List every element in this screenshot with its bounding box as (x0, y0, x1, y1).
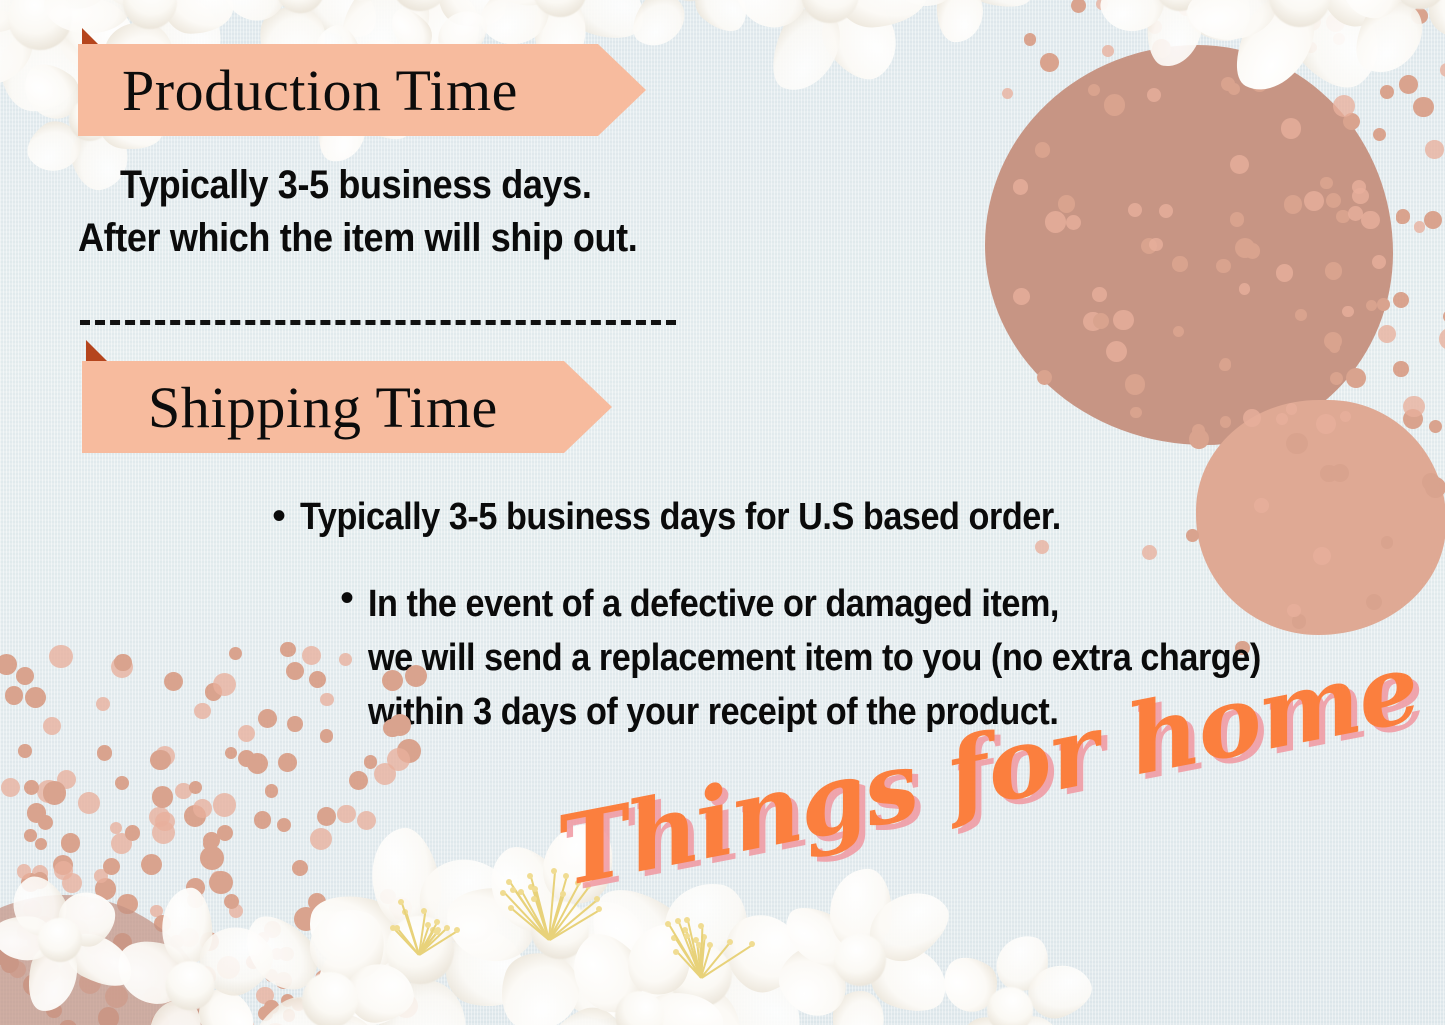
decorative-dot (103, 858, 120, 875)
decorative-dot (5, 686, 24, 705)
decorative-dot (200, 846, 224, 870)
decorative-dot (1304, 191, 1324, 211)
decorative-dot (1230, 212, 1245, 227)
decorative-dot (337, 805, 356, 824)
decorative-dot (265, 784, 279, 798)
ribbon-fold-shipping (86, 340, 108, 362)
decorative-dot (61, 833, 81, 853)
decorative-dot (389, 714, 411, 736)
decorative-dot (49, 645, 73, 669)
decorative-dot (1325, 262, 1343, 280)
decorative-dot (213, 673, 236, 696)
decorative-dot (1425, 140, 1443, 158)
decorative-dot (405, 665, 427, 687)
decorative-dot (349, 771, 368, 790)
decorative-dot (1276, 413, 1288, 425)
decorative-dot (1381, 536, 1393, 548)
flower-stamen-tip (707, 942, 713, 948)
decorative-dot (1159, 204, 1173, 218)
decorative-dot (1380, 85, 1394, 99)
decorative-dot (18, 744, 32, 758)
decorative-dot (1220, 416, 1232, 428)
decorative-dot (1058, 195, 1076, 213)
decorative-dot (96, 697, 110, 711)
flower-stamen-tip (673, 949, 679, 955)
flower-stamen-tip (444, 925, 450, 931)
decorative-dot (1228, 83, 1240, 95)
decorative-dot (1130, 407, 1141, 418)
decorative-dot (1245, 243, 1261, 259)
decorative-dot (1286, 403, 1298, 415)
bullet-marker-icon: • (272, 496, 286, 536)
decorative-dot (78, 792, 99, 813)
flower-stamen-tip (727, 939, 733, 945)
decorative-dot (1286, 433, 1308, 455)
decorative-dot (1342, 306, 1354, 318)
decorative-dot (1013, 179, 1029, 195)
decorative-dot (1396, 209, 1410, 223)
decorative-dot (1326, 193, 1341, 208)
decorative-dot (357, 811, 376, 830)
flower-stamen-tip (532, 886, 538, 892)
banner-production-time: Production Time (78, 44, 598, 136)
decorative-dot (1013, 288, 1030, 305)
decorative-dot (213, 793, 236, 816)
decorative-dot (229, 647, 242, 660)
banner-production-arrow (598, 44, 646, 136)
decorative-dot (254, 811, 272, 829)
decorative-dot (1316, 414, 1336, 434)
decorative-dot (1372, 255, 1386, 269)
decorative-dot (1102, 45, 1114, 57)
decorative-dot (152, 786, 173, 807)
decorative-dot (1125, 374, 1145, 394)
decorative-dot (1092, 287, 1107, 302)
decorative-dot (97, 745, 113, 761)
decorative-dot (1104, 94, 1125, 115)
decorative-dot (1429, 420, 1442, 433)
decorative-dot (224, 894, 239, 909)
decorative-dot (1361, 211, 1380, 230)
production-line-1: Typically 3-5 business days. (120, 163, 591, 208)
flower-stamen-tip (434, 919, 440, 925)
decorative-dot (1035, 142, 1051, 158)
decorative-dot (1284, 195, 1302, 213)
decorative-dot (1040, 53, 1059, 72)
decorative-dot (1024, 33, 1036, 45)
decorative-dot (152, 821, 175, 844)
decorative-dot (278, 753, 297, 772)
shipping-bullet-2-line-2: we will send a replacement item to you (… (368, 632, 1261, 686)
decorative-dot (150, 750, 171, 771)
decorative-dot (164, 672, 183, 691)
decorative-dot (1366, 300, 1377, 311)
decorative-dot (25, 687, 46, 708)
decorative-dot (194, 703, 211, 720)
decorative-dot (1313, 547, 1331, 565)
decorative-dot (339, 653, 352, 666)
decorative-dot (320, 693, 333, 706)
banner-shipping-time-label: Shipping Time (148, 374, 498, 441)
shipping-bullet-2-line-1: In the event of a defective or damaged i… (368, 578, 1261, 632)
decorative-dot (1295, 309, 1307, 321)
decorative-dot (1414, 221, 1425, 232)
decorative-dot (125, 825, 141, 841)
decorative-dot (1230, 155, 1249, 174)
decorative-dot (1045, 211, 1066, 232)
decorative-dot (225, 747, 237, 759)
flower-stamen-tip (551, 868, 557, 874)
decorative-dot (1424, 211, 1442, 229)
section-divider (80, 320, 676, 325)
decorative-dot (280, 642, 295, 657)
decorative-dot (1281, 118, 1302, 139)
flower-stamen-tip (560, 891, 566, 897)
decorative-dot (258, 709, 277, 728)
decorative-dot (1330, 372, 1343, 385)
decorative-dot (1172, 256, 1187, 271)
decorative-dot (1239, 283, 1251, 295)
decorative-dot (115, 776, 129, 790)
decorative-dot (203, 832, 220, 849)
flower-stamen-tip (684, 917, 690, 923)
decorative-dot (114, 654, 132, 672)
decorative-dot (1254, 498, 1269, 513)
flower-petal (937, 0, 983, 42)
decorative-dot (1366, 594, 1382, 610)
flower-stamen-tip (508, 905, 514, 911)
decorative-dot (110, 822, 122, 834)
decorative-dot (364, 755, 378, 769)
decorative-dot (1373, 128, 1386, 141)
decorative-dot (27, 803, 46, 822)
bullet-marker-icon: • (340, 578, 354, 618)
product-info-card: Production Time Typically 3-5 business d… (0, 0, 1445, 1025)
decorative-dot (1216, 259, 1230, 273)
decorative-dot (1149, 238, 1163, 252)
decorative-dot (1128, 203, 1143, 218)
decorative-dot (1, 778, 20, 797)
decorative-dot (1333, 95, 1355, 117)
banner-shipping-arrow (564, 361, 612, 453)
decorative-dot (1422, 473, 1440, 491)
shipping-bullet-1: • Typically 3-5 business days for U.S ba… (272, 496, 1145, 539)
banner-shipping-time: Shipping Time (82, 361, 564, 453)
decorative-dot (317, 807, 336, 826)
banner-production-time-label: Production Time (122, 57, 518, 124)
decorative-dot (1276, 264, 1294, 282)
decorative-dot (382, 670, 403, 691)
decorative-dot (1377, 298, 1390, 311)
decorative-dot (287, 716, 303, 732)
shipping-bullet-1-line-1: Typically 3-5 business days for U.S base… (300, 496, 1061, 539)
decorative-dot (1106, 341, 1127, 362)
decorative-dot (1399, 75, 1418, 94)
flower-stamen-tip (675, 918, 681, 924)
decorative-dot (1413, 97, 1434, 118)
decorative-dot (1393, 361, 1408, 376)
production-line-2: After which the item will ship out. (78, 216, 637, 261)
decorative-dot (1002, 88, 1013, 99)
decorative-dot (1186, 529, 1199, 542)
